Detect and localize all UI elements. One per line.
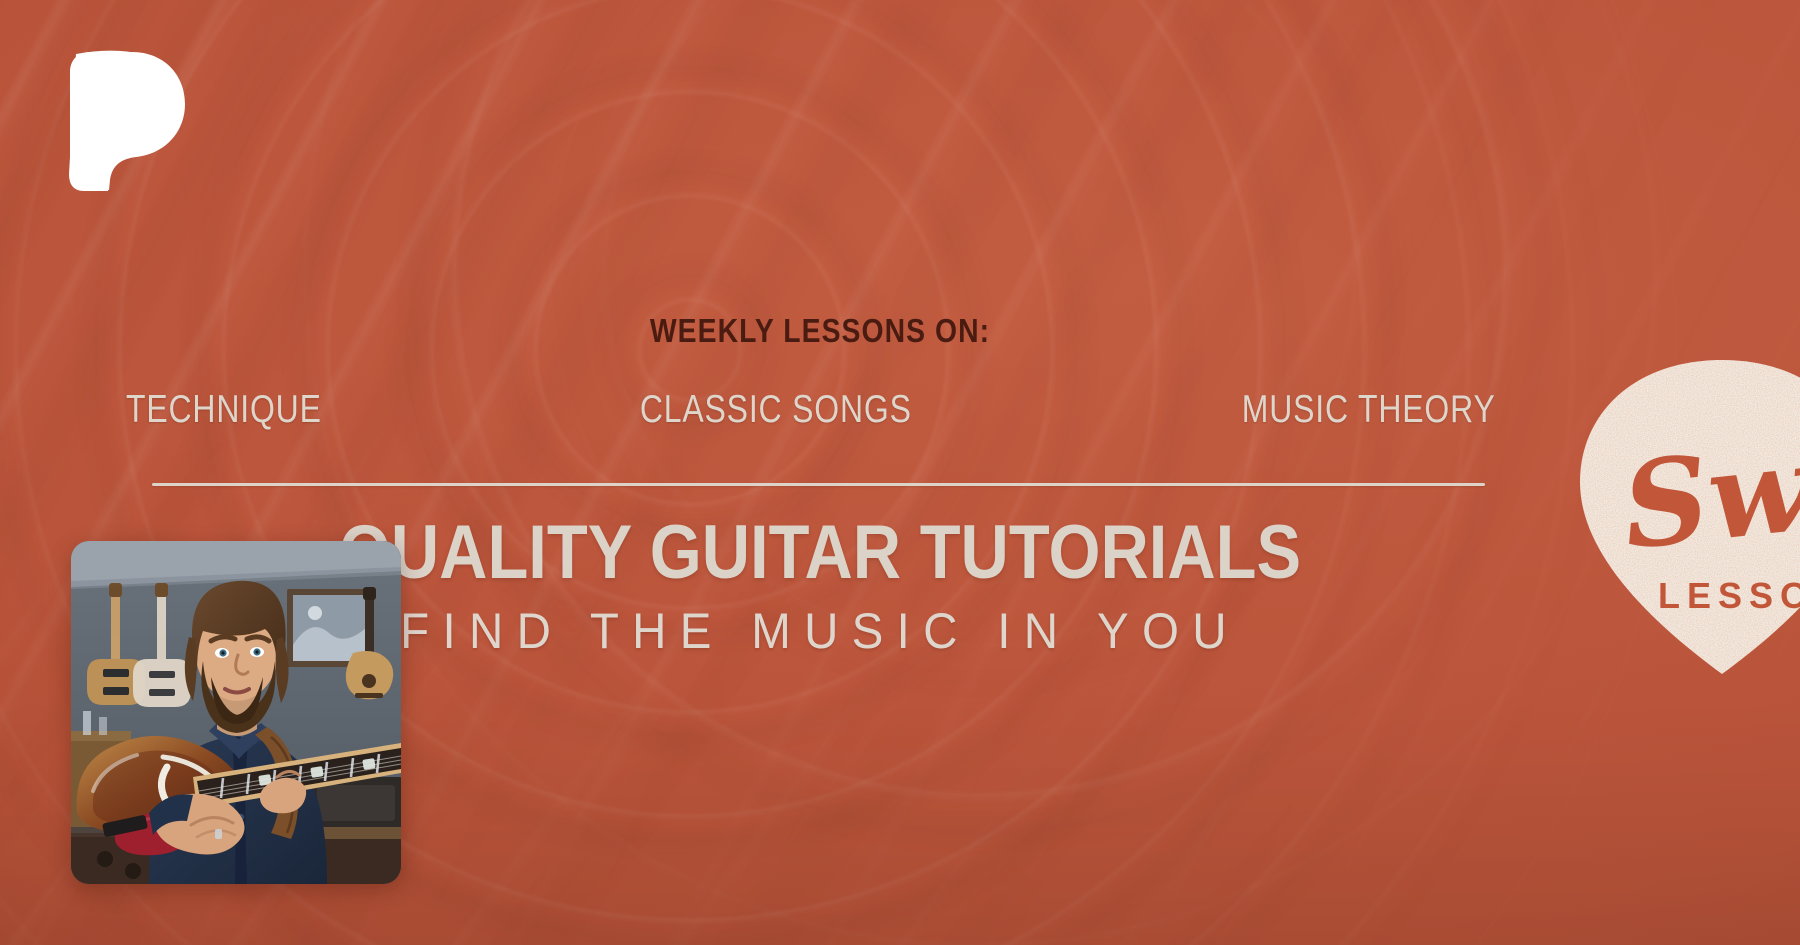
promo-category-music-theory: MUSIC THEORY: [1242, 388, 1496, 432]
creator-photo-illustration: [71, 541, 401, 884]
patreon-logo-icon: [68, 50, 186, 192]
promo-category-list: TECHNIQUE CLASSIC SONGS MUSIC THEORY: [126, 388, 1496, 432]
promo-divider: [152, 483, 1485, 486]
guitar-pick-icon: Swift LESSONS: [1572, 352, 1800, 682]
creator-avatar-thumbnail[interactable]: Creator holding a semi-hollow electric g…: [71, 541, 401, 884]
patreon-logo[interactable]: Patreon: [68, 50, 186, 192]
svg-text:LESSONS: LESSONS: [1658, 575, 1800, 616]
promo-category-classic-songs: CLASSIC SONGS: [640, 388, 912, 432]
patreon-banner: Patreon WEEKLY LESSONS ON: TECHNIQUE CLA…: [0, 0, 1800, 945]
swift-lessons-pick-badge: Swift LESSONS Swift LESSONS: [1572, 352, 1800, 682]
promo-eyebrow: WEEKLY LESSONS ON:: [115, 312, 1525, 350]
promo-category-technique: TECHNIQUE: [126, 388, 322, 432]
